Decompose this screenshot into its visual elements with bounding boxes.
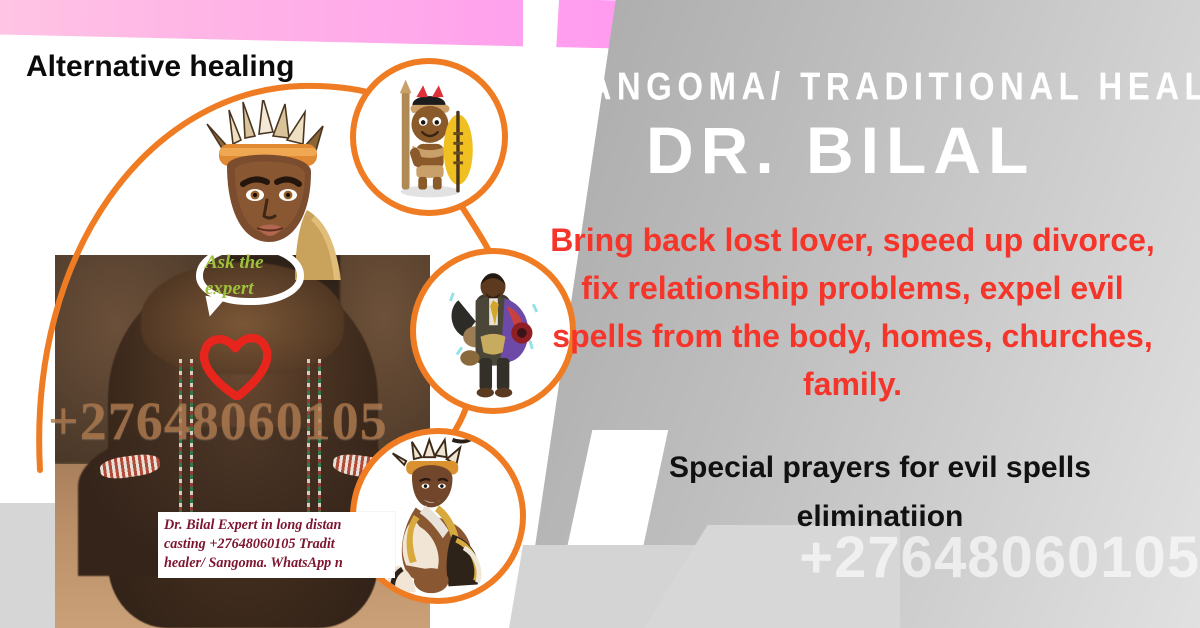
healer-name-title: DR. BILAL [646, 112, 1035, 188]
speech-bubble-line-2: expert [205, 276, 301, 302]
speech-bubble-line-1: Ask the [205, 250, 301, 276]
gray-bottom-left-block [0, 503, 56, 628]
services-paragraph: Bring back lost lover, speed up divorce,… [545, 216, 1160, 408]
caption-line-1: Dr. Bilal Expert in long distan [164, 516, 389, 535]
poster-canvas: +27648060105 Ask the expert Dr. Bilal Ex… [0, 0, 1200, 628]
caption-line-2: casting +27648060105 Tradit [164, 535, 389, 554]
photo-phone-watermark: +27648060105 [48, 390, 388, 452]
speech-bubble-text: Ask the expert [205, 250, 301, 302]
zulu-warrior-icon [356, 64, 502, 210]
caption-line-3: healer/ Sangoma. WhatsApp n [164, 554, 389, 573]
alternative-healing-heading: Alternative healing [26, 50, 294, 84]
ghost-phone-number: +27648060105 [660, 524, 1200, 591]
kicker-headline: SANGOMA/ TRADITIONAL HEALER [560, 64, 1180, 109]
circle-photo-zulu-warrior [350, 58, 508, 216]
photo-caption-box: Dr. Bilal Expert in long distan casting … [158, 512, 395, 578]
